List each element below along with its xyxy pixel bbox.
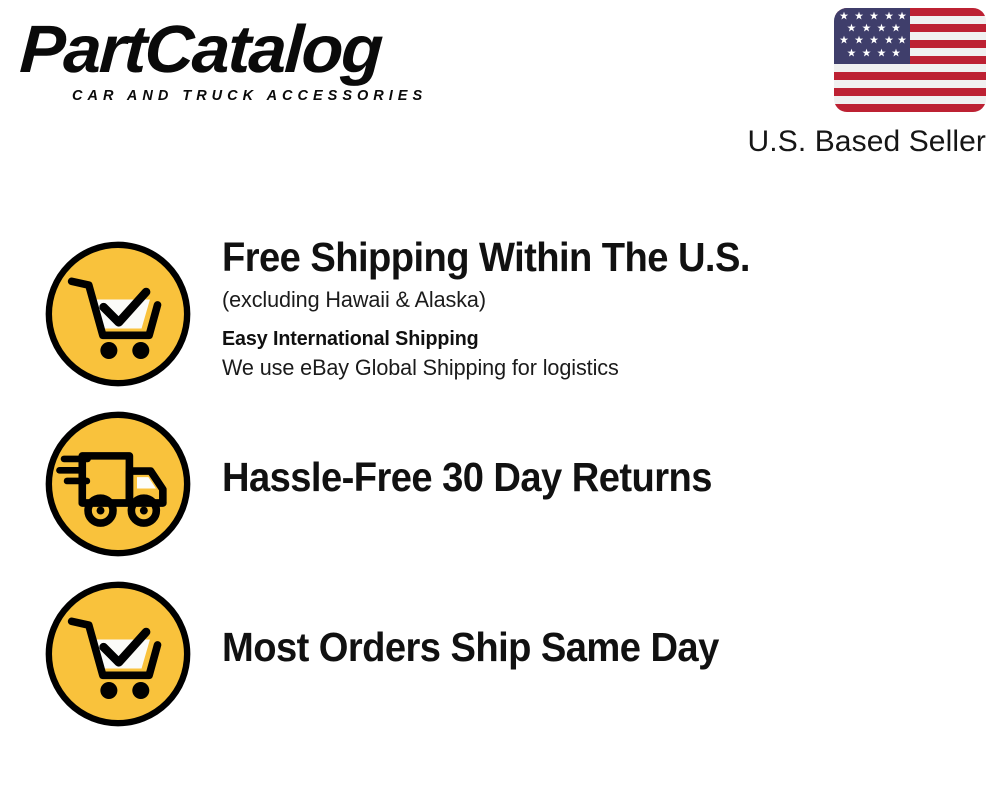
feature-subline: (excluding Hawaii & Alaska) [222, 285, 952, 315]
cart-check-icon [42, 238, 194, 390]
us-flag-icon [834, 8, 986, 112]
page-header: PartCatalog CAR AND TRUCK ACCESSORIES [0, 0, 1000, 170]
feature-row-free-shipping: Free Shipping Within The U.S. (excluding… [0, 232, 1000, 402]
brand-logo[interactable]: PartCatalog CAR AND TRUCK ACCESSORIES [22, 14, 492, 104]
us-based-seller-label: U.S. Based Seller [686, 125, 986, 159]
feature-text-returns: Hassle-Free 30 Day Returns [222, 454, 982, 501]
brand-tagline: CAR AND TRUCK ACCESSORIES [72, 88, 492, 104]
delivery-truck-icon [42, 408, 194, 560]
feature-headline: Most Orders Ship Same Day [222, 624, 929, 671]
feature-text-free-shipping: Free Shipping Within The U.S. (excluding… [222, 234, 982, 393]
feature-row-same-day: Most Orders Ship Same Day [0, 572, 1000, 742]
feature-row-returns: Hassle-Free 30 Day Returns [0, 402, 1000, 572]
us-based-seller-badge: U.S. Based Seller [686, 8, 986, 159]
feature-secondary-subline: We use eBay Global Shipping for logistic… [222, 353, 952, 383]
feature-headline: Hassle-Free 30 Day Returns [222, 454, 929, 501]
feature-secondary-headline: Easy International Shipping [222, 325, 952, 353]
feature-text-same-day: Most Orders Ship Same Day [222, 624, 982, 671]
brand-wordmark: PartCatalog [18, 14, 501, 86]
feature-list: Free Shipping Within The U.S. (excluding… [0, 232, 1000, 742]
cart-check-icon [42, 578, 194, 730]
feature-headline: Free Shipping Within The U.S. [222, 234, 929, 281]
